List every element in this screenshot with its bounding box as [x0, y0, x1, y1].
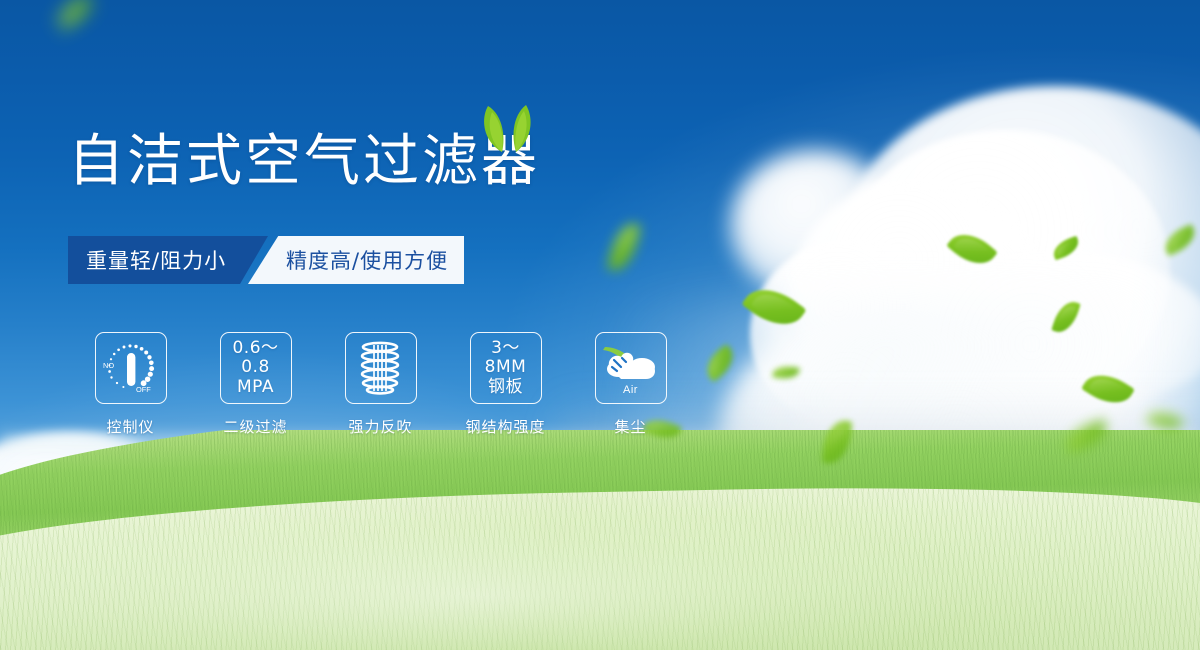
pressure-value-line: 0.6～0.8 [221, 339, 291, 377]
feature-item-controller[interactable]: NO OFF 控制仪 [68, 332, 193, 437]
feature-icon-box: NO OFF [95, 332, 167, 404]
subtitle-right-text: 精度高/使用方便 [248, 245, 448, 275]
feature-label: 钢结构强度 [465, 416, 545, 437]
product-banner: 自洁式空气过滤器 重量轻/阻力小 精度高/使用方便 [0, 0, 1200, 650]
feature-item-pressure[interactable]: 0.6～0.8 MPA 二级过滤 [193, 332, 318, 437]
feature-item-steel[interactable]: 3～8MM 钢板 钢结构强度 [443, 332, 568, 437]
gauge-on-label: NO [103, 361, 114, 370]
filter-coil-icon [354, 339, 408, 397]
feature-icon-box: 0.6～0.8 MPA [220, 332, 292, 404]
steel-plate-text-icon: 3～8MM 钢板 [471, 339, 541, 396]
feature-icon-box: 3～8MM 钢板 [470, 332, 542, 404]
title-block: 自洁式空气过滤器 [68, 134, 540, 190]
subtitle-left-panel: 重量轻/阻力小 [68, 236, 268, 284]
feature-label: 控制仪 [106, 416, 154, 437]
gauge-off-label: OFF [136, 385, 151, 394]
pressure-unit-line: MPA [221, 378, 291, 397]
feature-label: 集尘 [614, 416, 646, 437]
feature-item-dust[interactable]: Air 集尘 [568, 332, 693, 437]
feature-label: 强力反吹 [348, 416, 412, 437]
steel-material-line: 钢板 [471, 378, 541, 397]
sprout-leaves-icon [472, 102, 542, 152]
subtitle-right-panel: 精度高/使用方便 [248, 236, 464, 284]
subtitle-bar: 重量轻/阻力小 精度高/使用方便 [68, 236, 464, 284]
grass-highlight [0, 500, 1200, 650]
feature-icon-box [345, 332, 417, 404]
subtitle-left-text: 重量轻/阻力小 [68, 245, 226, 275]
page-title: 自洁式空气过滤器 [68, 134, 540, 190]
feature-item-backblow[interactable]: 强力反吹 [318, 332, 443, 437]
steel-thickness-line: 3～8MM [471, 339, 541, 377]
gauge-icon: NO OFF [100, 337, 162, 399]
feature-icon-box: Air [595, 332, 667, 404]
pressure-text-icon: 0.6～0.8 MPA [221, 339, 291, 396]
feature-list: NO OFF 控制仪 0.6～0.8 MPA 二级过滤 [68, 332, 693, 437]
grass-field [0, 430, 1200, 650]
feature-label: 二级过滤 [223, 416, 287, 437]
air-caption: Air [596, 384, 666, 396]
